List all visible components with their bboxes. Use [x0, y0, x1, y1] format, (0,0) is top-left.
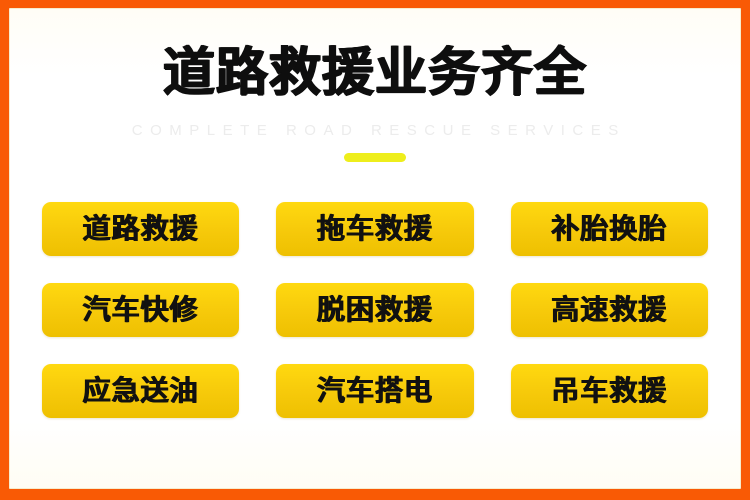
service-button-tow-rescue[interactable]: 拖车救援 [276, 202, 473, 256]
poster-canvas: 道路救援业务齐全 COMPLETE ROAD RESCUE SERVICES 道… [10, 9, 740, 488]
service-label: 吊车救援 [551, 376, 667, 406]
poster-root: 道路救援业务齐全 COMPLETE ROAD RESCUE SERVICES 道… [0, 0, 750, 500]
page-title: 道路救援业务齐全 [10, 44, 740, 102]
service-button-emergency-fuel[interactable]: 应急送油 [42, 364, 239, 418]
service-label: 补胎换胎 [551, 214, 667, 244]
service-button-jump-start[interactable]: 汽车搭电 [276, 364, 473, 418]
service-label: 道路救援 [83, 214, 199, 244]
service-grid: 道路救援 拖车救援 补胎换胎 汽车快修 脱困救援 高速救援 应急送油 汽车搭电 [42, 202, 708, 418]
accent-underline-bar [344, 153, 406, 162]
service-label: 拖车救援 [317, 214, 433, 244]
service-button-tire-repair[interactable]: 补胎换胎 [511, 202, 708, 256]
service-button-quick-repair[interactable]: 汽车快修 [42, 283, 239, 337]
service-button-extrication-rescue[interactable]: 脱困救援 [276, 283, 473, 337]
service-label: 汽车快修 [83, 295, 199, 325]
service-label: 脱困救援 [317, 295, 433, 325]
service-label: 高速救援 [551, 295, 667, 325]
page-subtitle: COMPLETE ROAD RESCUE SERVICES [10, 121, 740, 141]
service-button-road-rescue[interactable]: 道路救援 [42, 202, 239, 256]
service-label: 汽车搭电 [317, 376, 433, 406]
service-button-crane-rescue[interactable]: 吊车救援 [511, 364, 708, 418]
poster-header: 道路救援业务齐全 COMPLETE ROAD RESCUE SERVICES [10, 9, 740, 194]
service-label: 应急送油 [83, 376, 199, 406]
service-button-highway-rescue[interactable]: 高速救援 [511, 283, 708, 337]
